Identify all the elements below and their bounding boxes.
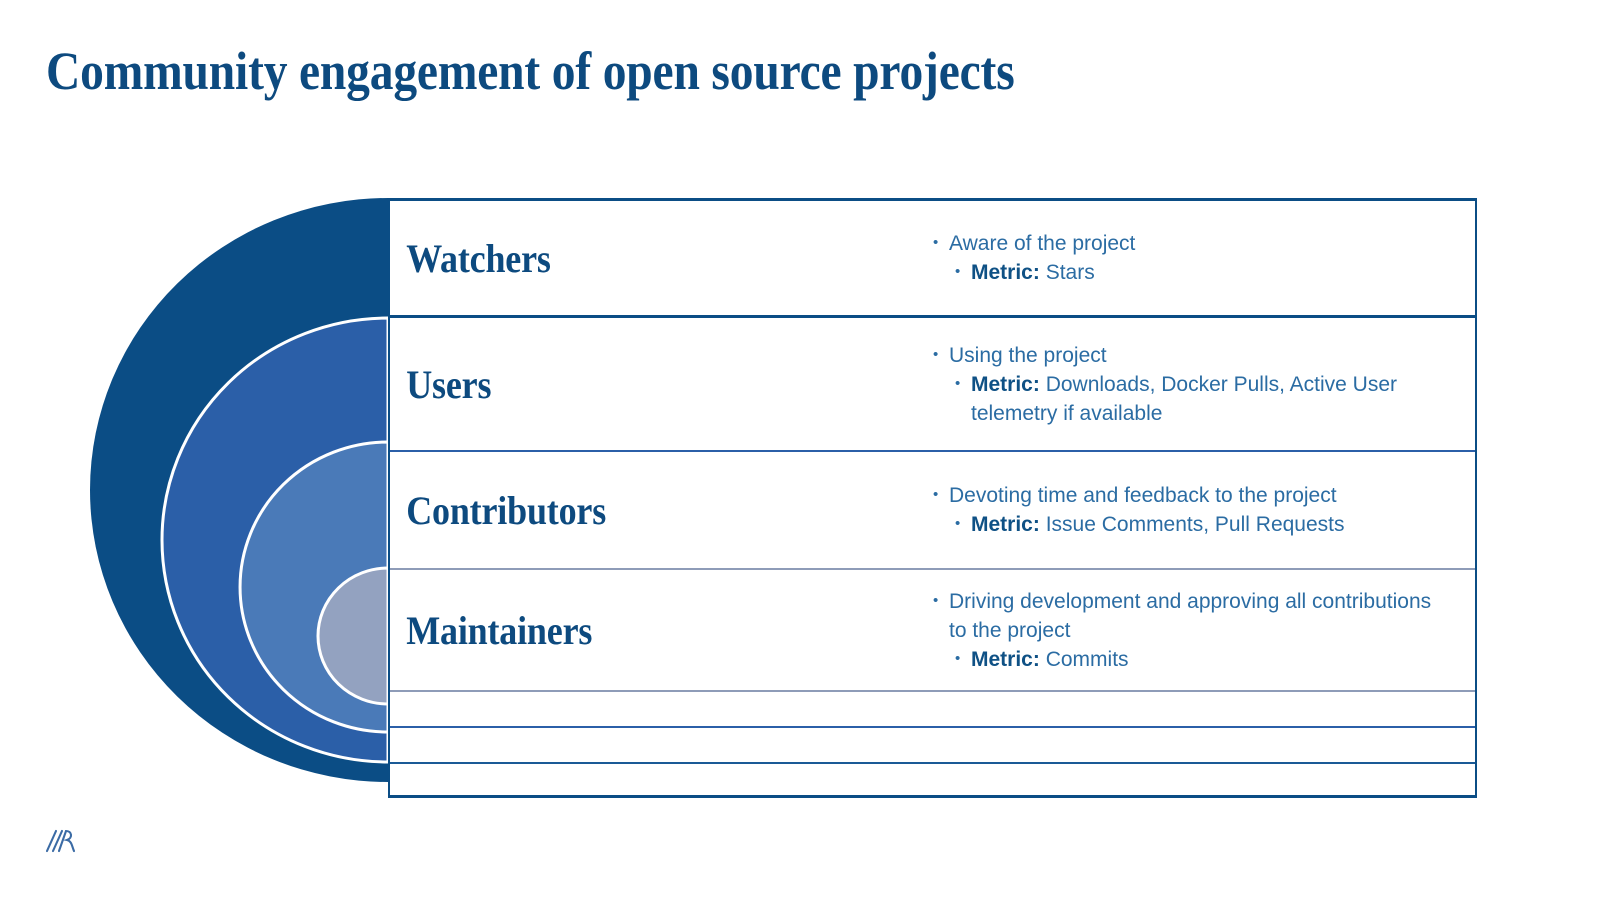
bullet-metric: Metric: Downloads, Docker Pulls, Active …: [931, 370, 1451, 428]
bullet-primary: Using the project: [931, 341, 1451, 370]
community-tiers-table: Watchers Aware of the project Metric: St…: [388, 198, 1477, 798]
metric-value: Issue Comments, Pull Requests: [1046, 513, 1345, 536]
metric-value: Commits: [1046, 648, 1129, 671]
slanted-strokes-monogram-icon: [47, 831, 74, 851]
bullet-primary: Devoting time and feedback to the projec…: [931, 481, 1451, 510]
bullet-metric: Metric: Stars: [931, 258, 1451, 287]
table-row: Maintainers Driving development and appr…: [390, 570, 1475, 692]
bullet-metric: Metric: Commits: [931, 645, 1451, 674]
tier-label-users: Users: [390, 361, 877, 408]
slide-canvas: Community engagement of open source proj…: [0, 0, 1600, 900]
tier-label-watchers: Watchers: [390, 235, 877, 282]
table-row-empty: [390, 764, 1475, 798]
bullet-metric: Metric: Issue Comments, Pull Requests: [931, 510, 1451, 539]
tier-bullets-users: Using the project Metric: Downloads, Doc…: [931, 341, 1475, 428]
brand-logo: [42, 818, 82, 864]
tier-bullets-maintainers: Driving development and approving all co…: [931, 587, 1475, 674]
metric-value: Stars: [1046, 261, 1095, 284]
page-title: Community engagement of open source proj…: [46, 44, 1015, 98]
metric-label: Metric:: [971, 648, 1040, 671]
table-row: Contributors Devoting time and feedback …: [390, 452, 1475, 570]
tier-label-contributors: Contributors: [390, 487, 877, 534]
bullet-primary: Driving development and approving all co…: [931, 587, 1451, 645]
table-row: Users Using the project Metric: Download…: [390, 318, 1475, 452]
tier-label-maintainers: Maintainers: [390, 607, 877, 654]
metric-label: Metric:: [971, 513, 1040, 536]
community-rings-diagram: [0, 180, 400, 800]
metric-label: Metric:: [971, 261, 1040, 284]
table-row-empty: [390, 692, 1475, 728]
table-row: Watchers Aware of the project Metric: St…: [390, 198, 1475, 318]
metric-label: Metric:: [971, 373, 1040, 396]
tier-bullets-contributors: Devoting time and feedback to the projec…: [931, 481, 1475, 539]
bullet-primary: Aware of the project: [931, 229, 1451, 258]
tier-bullets-watchers: Aware of the project Metric: Stars: [931, 229, 1475, 287]
table-row-empty: [390, 728, 1475, 764]
